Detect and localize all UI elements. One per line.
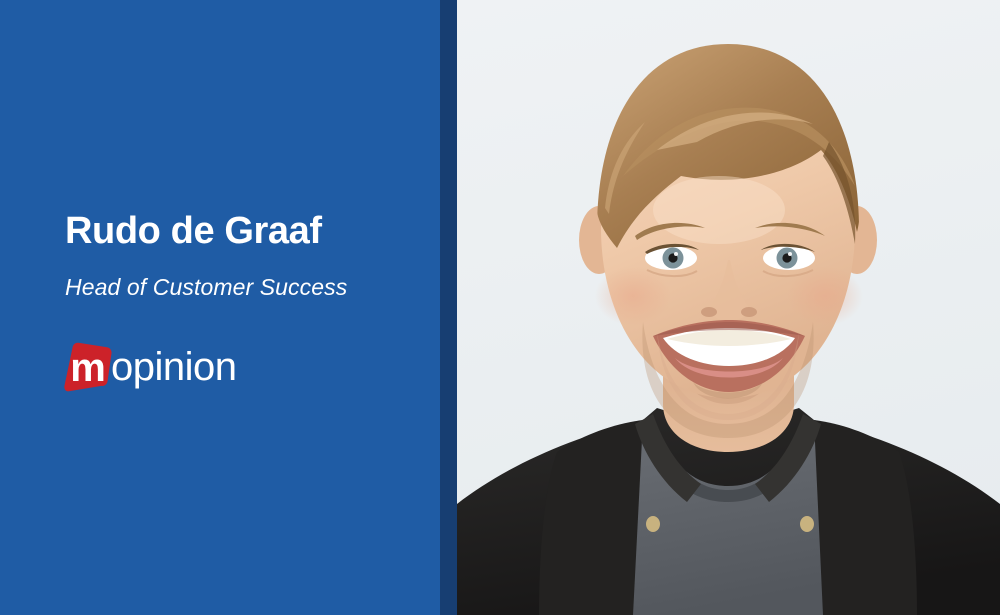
- profile-role: Head of Customer Success: [65, 252, 425, 301]
- profile-card: Rudo de Graaf Head of Customer Success m…: [0, 0, 1000, 615]
- left-blue-panel: [0, 0, 440, 615]
- profile-text-block: Rudo de Graaf Head of Customer Success: [65, 212, 425, 301]
- profile-photo: [457, 0, 1000, 615]
- mopinion-logo: m opinion: [62, 341, 237, 393]
- mopinion-wordmark: opinion: [111, 341, 237, 393]
- mopinion-mark-letter: m: [62, 341, 114, 393]
- panel-divider: [440, 0, 457, 615]
- page-title: Rudo de Graaf: [65, 212, 425, 252]
- mopinion-mark-icon: m: [62, 341, 114, 393]
